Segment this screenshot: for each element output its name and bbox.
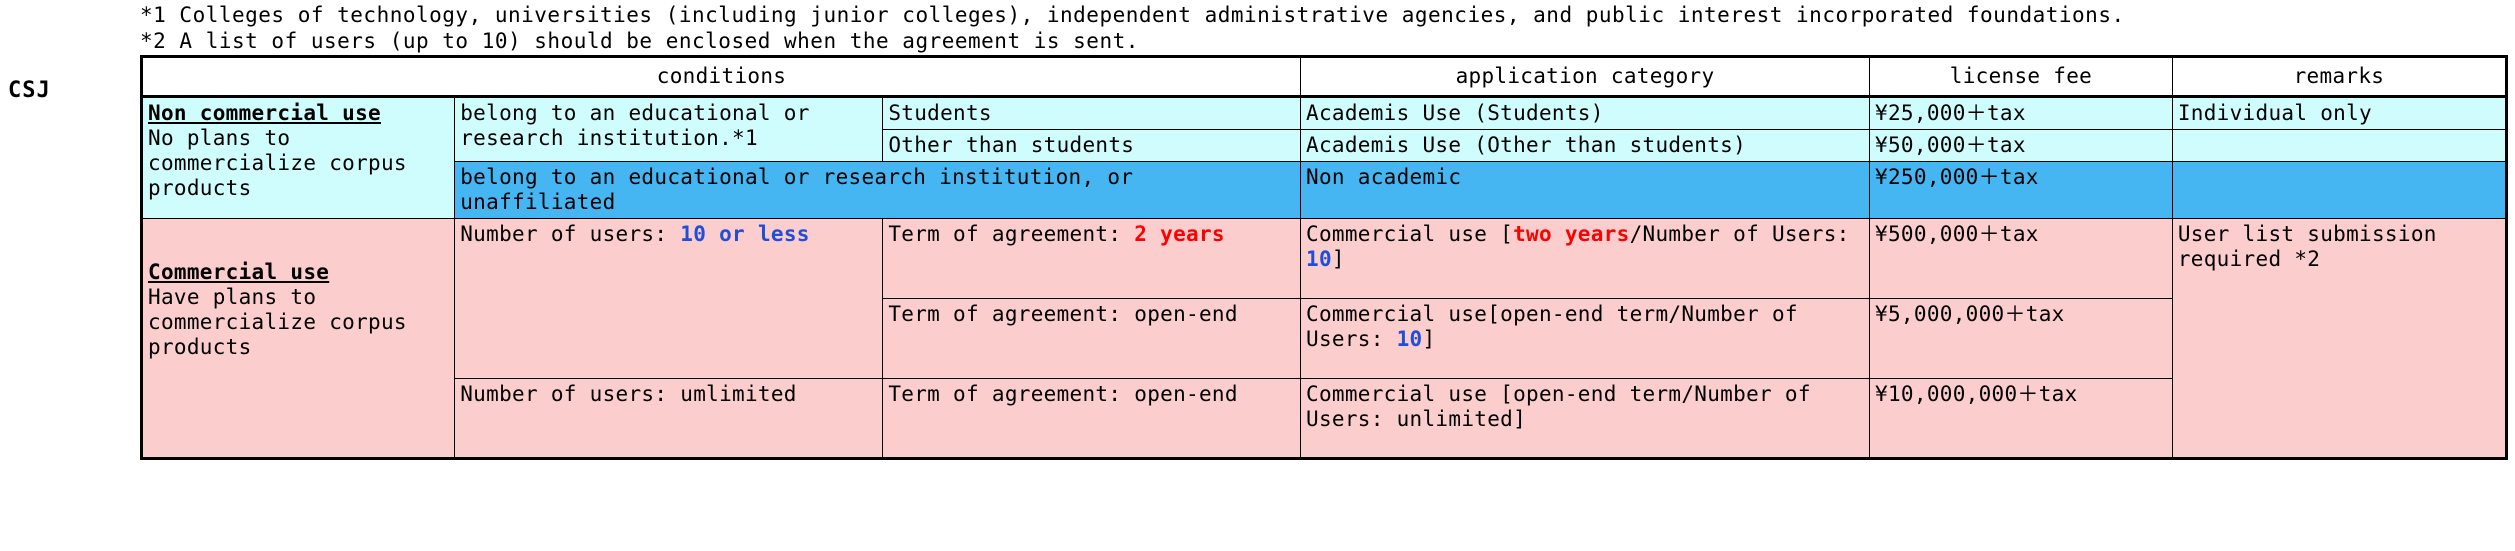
- group-cell-commercial: Commercial use Have plans to commerciali…: [142, 219, 455, 459]
- corpus-label: CSJ: [8, 78, 51, 103]
- app-mid: /Number of Users:: [1630, 222, 1850, 246]
- license-fee-commercial-openend-10: ¥5,000,000＋tax: [1870, 299, 2173, 379]
- condition-term-open-end: Term of agreement: open-end: [883, 299, 1301, 379]
- condition-term-prefix: Term of agreement:: [888, 222, 1134, 246]
- app-suffix: ]: [1332, 247, 1345, 271]
- group-title-commercial: Commercial use: [148, 260, 329, 285]
- application-category-commercial-2y: Commercial use [two years/Number of User…: [1301, 219, 1870, 299]
- table-header-row: conditions application category license …: [142, 57, 2507, 97]
- pricing-table: conditions application category license …: [140, 55, 2508, 460]
- pricing-table-wrapper: conditions application category license …: [140, 55, 2508, 460]
- header-conditions: conditions: [142, 57, 1301, 97]
- condition-other-than-students: Other than students: [883, 130, 1301, 162]
- condition-institution-or-unaffiliated: belong to an educational or research ins…: [455, 162, 1301, 219]
- table-row: belong to an educational or research ins…: [142, 162, 2507, 219]
- condition-users-10-or-less: Number of users: 10 or less: [455, 219, 883, 379]
- condition-users-prefix: Number of users:: [460, 222, 680, 246]
- condition-term-value: 2 years: [1134, 222, 1225, 246]
- header-remarks: remarks: [2172, 57, 2506, 97]
- application-category-commercial-openend-10: Commercial use[open-end term/Number of U…: [1301, 299, 1870, 379]
- group-desc-commercial: Have plans to commercialize corpus produ…: [148, 285, 449, 360]
- app-users-highlight: 10: [1306, 247, 1332, 271]
- license-fee-academic-other: ¥50,000＋tax: [1870, 130, 2173, 162]
- application-category-commercial-unlimited: Commercial use [open-end term/Number of …: [1301, 379, 1870, 459]
- app-prefix: Commercial use[open-end term/Number of U…: [1306, 302, 1798, 351]
- header-license-fee: license fee: [1870, 57, 2173, 97]
- remarks-empty: [2172, 130, 2506, 162]
- header-application-category: application category: [1301, 57, 1870, 97]
- app-suffix: ]: [1423, 327, 1436, 351]
- pricing-table-page: *1 Colleges of technology, universities …: [0, 0, 2515, 551]
- footnotes-block: *1 Colleges of technology, universities …: [140, 2, 2125, 54]
- condition-term-2-years: Term of agreement: 2 years: [883, 219, 1301, 299]
- group-cell-non-commercial: Non commercial use No plans to commercia…: [142, 97, 455, 219]
- footnote-1: *1 Colleges of technology, universities …: [140, 2, 2125, 28]
- condition-institution: belong to an educational or research ins…: [455, 97, 883, 162]
- app-users-highlight: 10: [1397, 327, 1423, 351]
- group-desc-non-commercial: No plans to commercialize corpus product…: [148, 126, 449, 201]
- group-title-non-commercial: Non commercial use: [148, 101, 381, 126]
- license-fee-academic-students: ¥25,000＋tax: [1870, 97, 2173, 130]
- condition-users-unlimited: Number of users: umlimited: [455, 379, 883, 459]
- remarks-empty: [2172, 162, 2506, 219]
- license-fee-commercial-2y: ¥500,000＋tax: [1870, 219, 2173, 299]
- table-row: Commercial use Have plans to commerciali…: [142, 219, 2507, 299]
- application-category-non-academic: Non academic: [1301, 162, 1870, 219]
- condition-students: Students: [883, 97, 1301, 130]
- table-row: Non commercial use No plans to commercia…: [142, 97, 2507, 130]
- remarks-individual-only: Individual only: [2172, 97, 2506, 130]
- app-term-highlight: two years: [1513, 222, 1630, 246]
- footnote-2: *2 A list of users (up to 10) should be …: [140, 28, 2125, 54]
- application-category-academic-students: Academis Use (Students): [1301, 97, 1870, 130]
- condition-users-value: 10 or less: [680, 222, 809, 246]
- remarks-user-list-required: User list submission required *2: [2172, 219, 2506, 459]
- application-category-academic-other: Academis Use (Other than students): [1301, 130, 1870, 162]
- license-fee-commercial-unlimited: ¥10,000,000＋tax: [1870, 379, 2173, 459]
- license-fee-non-academic: ¥250,000＋tax: [1870, 162, 2173, 219]
- app-prefix: Commercial use [: [1306, 222, 1513, 246]
- condition-term-open-end-unlimited: Term of agreement: open-end: [883, 379, 1301, 459]
- table-row: Number of users: umlimited Term of agree…: [142, 379, 2507, 459]
